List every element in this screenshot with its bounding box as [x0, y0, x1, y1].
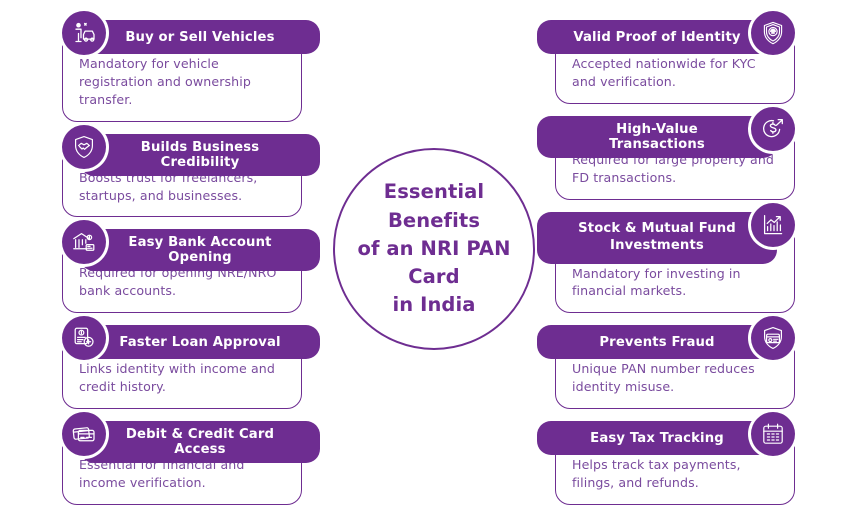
shield-fingerprint-icon	[751, 11, 795, 55]
page-title: Essential Benefits of an NRI PAN Card in…	[335, 178, 533, 319]
benefit-card[interactable]: Valid Proof of Identity Accepted nationw…	[537, 20, 795, 104]
center-title-line-3: in India	[392, 293, 475, 316]
benefit-card-title-line-1: Stock & Mutual Fund	[578, 221, 736, 236]
benefit-card-description: Mandatory for vehicle registration and o…	[79, 55, 285, 109]
benefit-card-description: Mandatory for investing in financial mar…	[572, 265, 778, 301]
person-with-car-icon	[62, 11, 106, 55]
benefit-card[interactable]: High-Value Transactions Required for lar…	[537, 116, 795, 200]
infographic-canvas: Buy or Sell Vehicles Mandatory for vehic…	[0, 0, 855, 508]
benefit-card[interactable]: Builds Business Credibility Boosts trust…	[62, 134, 320, 218]
bar-chart-growth-icon	[751, 203, 795, 247]
center-title-line-2: of an NRI PAN Card	[357, 237, 510, 288]
left-benefits-column: Buy or Sell Vehicles Mandatory for vehic…	[62, 20, 320, 517]
benefit-card-title: Faster Loan Approval	[80, 325, 320, 359]
benefit-card-title: Easy Bank Account Opening	[80, 229, 320, 271]
benefit-card-description: Accepted nationwide for KYC and verifica…	[572, 55, 778, 91]
benefit-card-title: Easy Tax Tracking	[537, 421, 777, 455]
benefit-card[interactable]: Buy or Sell Vehicles Mandatory for vehic…	[62, 20, 320, 122]
benefit-card-description: Links identity with income and credit hi…	[79, 360, 285, 396]
benefit-card-description: Unique PAN number reduces identity misus…	[572, 360, 778, 396]
benefit-card-title: Buy or Sell Vehicles	[80, 20, 320, 54]
benefit-card-title: Prevents Fraud	[537, 325, 777, 359]
benefit-card-title: Builds Business Credibility	[80, 134, 320, 176]
benefit-card[interactable]: Stock & Mutual Fund Investments Mandator…	[537, 212, 795, 314]
benefit-card-title-line-2: Investments	[610, 238, 704, 253]
benefit-card-title: Valid Proof of Identity	[537, 20, 777, 54]
benefit-card-title: High-Value Transactions	[537, 116, 777, 158]
loan-document-icon	[62, 316, 106, 360]
dollar-growth-arrow-icon	[751, 107, 795, 151]
benefit-card[interactable]: Easy Tax Tracking Helps track tax paymen…	[537, 421, 795, 505]
center-title-circle: Essential Benefits of an NRI PAN Card in…	[333, 148, 535, 350]
calendar-tax-icon	[751, 412, 795, 456]
handshake-shield-icon	[62, 125, 106, 169]
benefit-card-title: Stock & Mutual Fund Investments	[537, 212, 777, 264]
credit-cards-icon	[62, 412, 106, 456]
benefit-card-title: Debit & Credit Card Access	[80, 421, 320, 463]
benefit-card-description: Helps track tax payments, filings, and r…	[572, 456, 778, 492]
benefit-card[interactable]: Debit & Credit Card Access Essential for…	[62, 421, 320, 505]
benefit-card[interactable]: Prevents Fraud Unique PAN number reduces…	[537, 325, 795, 409]
right-benefits-column: Valid Proof of Identity Accepted nationw…	[537, 20, 795, 517]
center-title-line-1: Essential Benefits	[384, 180, 484, 231]
benefit-card[interactable]: Easy Bank Account Opening Required for o…	[62, 229, 320, 313]
benefit-card[interactable]: Faster Loan Approval Links identity with…	[62, 325, 320, 409]
card-shield-protection-icon	[751, 316, 795, 360]
